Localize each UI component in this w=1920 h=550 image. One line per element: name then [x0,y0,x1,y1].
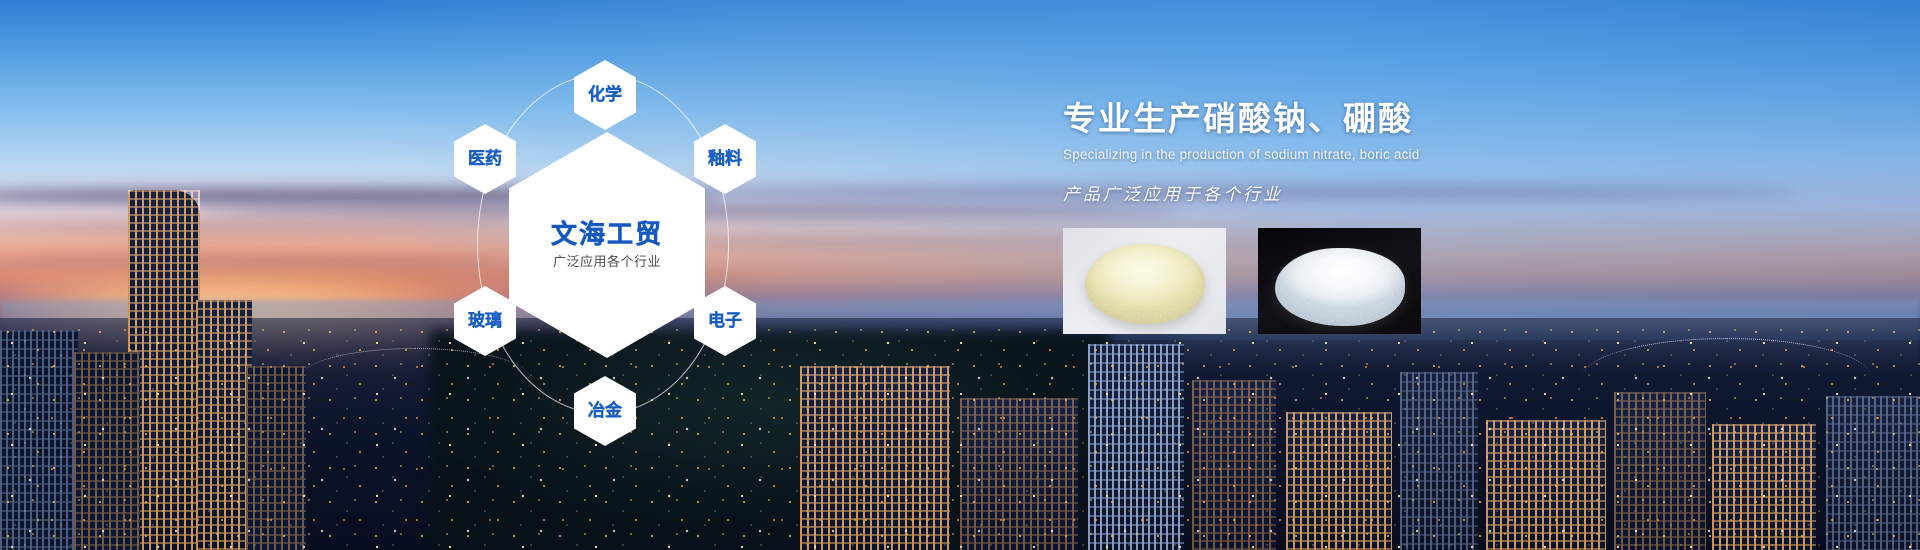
brand-tagline: 广泛应用各个行业 [553,256,661,269]
hex-node-label: 冶金 [588,403,622,420]
boric-acid-powder-photo[interactable] [1258,228,1421,334]
headline: 专业生产硝酸钠、硼酸 [1063,98,1763,139]
sodium-nitrate-powder-photo[interactable] [1063,228,1226,334]
city-skyline-dusk-photo [0,0,1920,550]
hex-node-label: 医药 [468,151,502,168]
industry-hexagon-diagram: 化学 釉料 电子 冶金 玻璃 医药 文海工贸 广泛应用各个行业 [432,36,782,456]
powder-heap [1085,244,1205,324]
hex-node-label: 釉料 [708,151,742,168]
headline-tagline: 产品广泛应用于各个行业 [1063,180,1763,205]
hex-node-label: 化学 [588,87,622,104]
headline-english: Specializing in the production of sodium… [1063,147,1763,162]
promo-banner: 化学 釉料 电子 冶金 玻璃 医药 文海工贸 广泛应用各个行业 专业生产硝酸钠、… [0,0,1920,550]
brand-name: 文海工贸 [551,221,663,251]
powder-heap [1275,248,1405,326]
hex-node-label: 玻璃 [468,313,502,330]
product-photo-gallery [1063,228,1421,334]
hex-node-label: 电子 [708,313,742,330]
headline-block: 专业生产硝酸钠、硼酸 Specializing in the productio… [1063,98,1763,205]
